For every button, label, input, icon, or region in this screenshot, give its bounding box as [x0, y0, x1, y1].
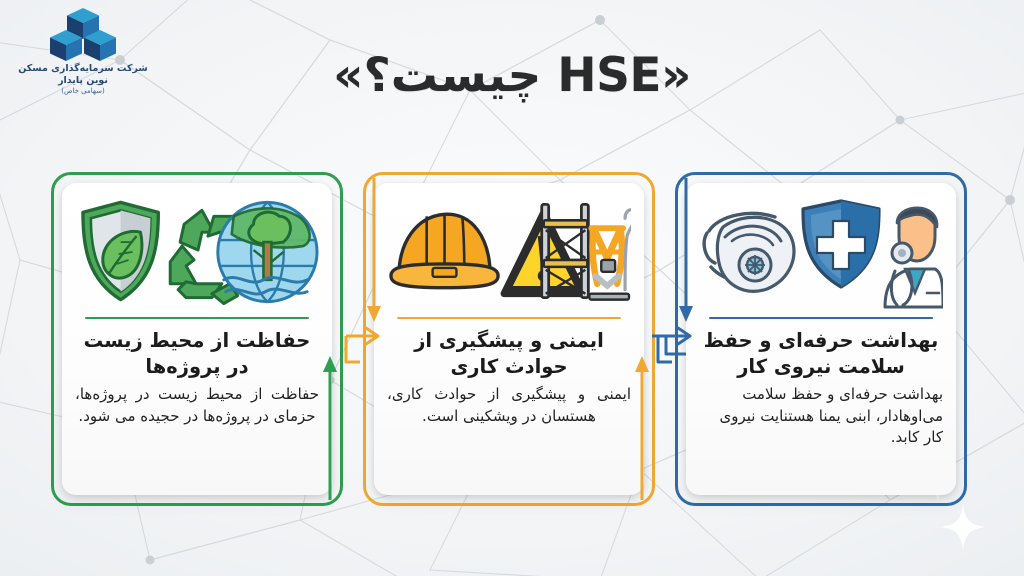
sparkle-decoration-bottom-right	[940, 504, 986, 550]
globe-tree-icon	[218, 202, 317, 301]
page-title: «HSE چیست؟»	[0, 48, 1024, 103]
cards-row: بهداشت حرفه‌ای و حفظ سلامت نیروی کار بهد…	[0, 172, 1024, 506]
safety-harness-icon	[589, 210, 631, 300]
card-body-occupational-health: بهداشت حرفه‌ای و حفظ سلامت می‌اوهادار، ا…	[699, 384, 943, 448]
respirator-mask-icon	[704, 213, 794, 291]
card-inner-green: حفاظت از محیط زیست در پروژه‌ها حفاظت از …	[62, 183, 332, 495]
card-title-occupational-health: بهداشت حرفه‌ای و حفظ سلامت نیروی کار	[699, 328, 943, 379]
card-divider-green	[85, 317, 309, 319]
card-divider-orange	[397, 317, 621, 319]
card-icon-group-environment	[75, 195, 319, 313]
card-title-environmental-protection: حفاظت از محیط زیست در پروژه‌ها	[75, 328, 319, 379]
card-environmental-protection[interactable]: حفاظت از محیط زیست در پروژه‌ها حفاظت از …	[51, 172, 343, 506]
card-divider-blue	[709, 317, 933, 319]
leaf-shield-icon	[83, 202, 158, 299]
card-title-safety-prevention: ایمنی و پیشگیری از حوادث کاری	[387, 328, 631, 379]
hard-hat-icon	[391, 214, 498, 288]
card-icon-group-safety	[387, 195, 631, 313]
card-inner-blue: بهداشت حرفه‌ای و حفظ سلامت نیروی کار بهد…	[686, 183, 956, 495]
card-body-environmental-protection: حفاظت از محیط زیست در پروژه‌ها، حزمای در…	[75, 384, 319, 427]
doctor-icon	[885, 208, 943, 307]
card-occupational-health[interactable]: بهداشت حرفه‌ای و حفظ سلامت نیروی کار بهد…	[675, 172, 967, 506]
slide-canvas: شرکت سرمایه‌گذاری مسکن نوین پایدار (سهام…	[0, 0, 1024, 576]
medical-shield-icon	[803, 201, 879, 287]
card-icon-group-health	[699, 195, 943, 313]
card-inner-orange: ایمنی و پیشگیری از حوادث کاری ایمنی و پی…	[374, 183, 644, 495]
card-body-safety-prevention: ایمنی و پیشگیری از حوادث کاری، هستسان در…	[387, 384, 631, 427]
card-safety-prevention[interactable]: ایمنی و پیشگیری از حوادث کاری ایمنی و پی…	[363, 172, 655, 506]
